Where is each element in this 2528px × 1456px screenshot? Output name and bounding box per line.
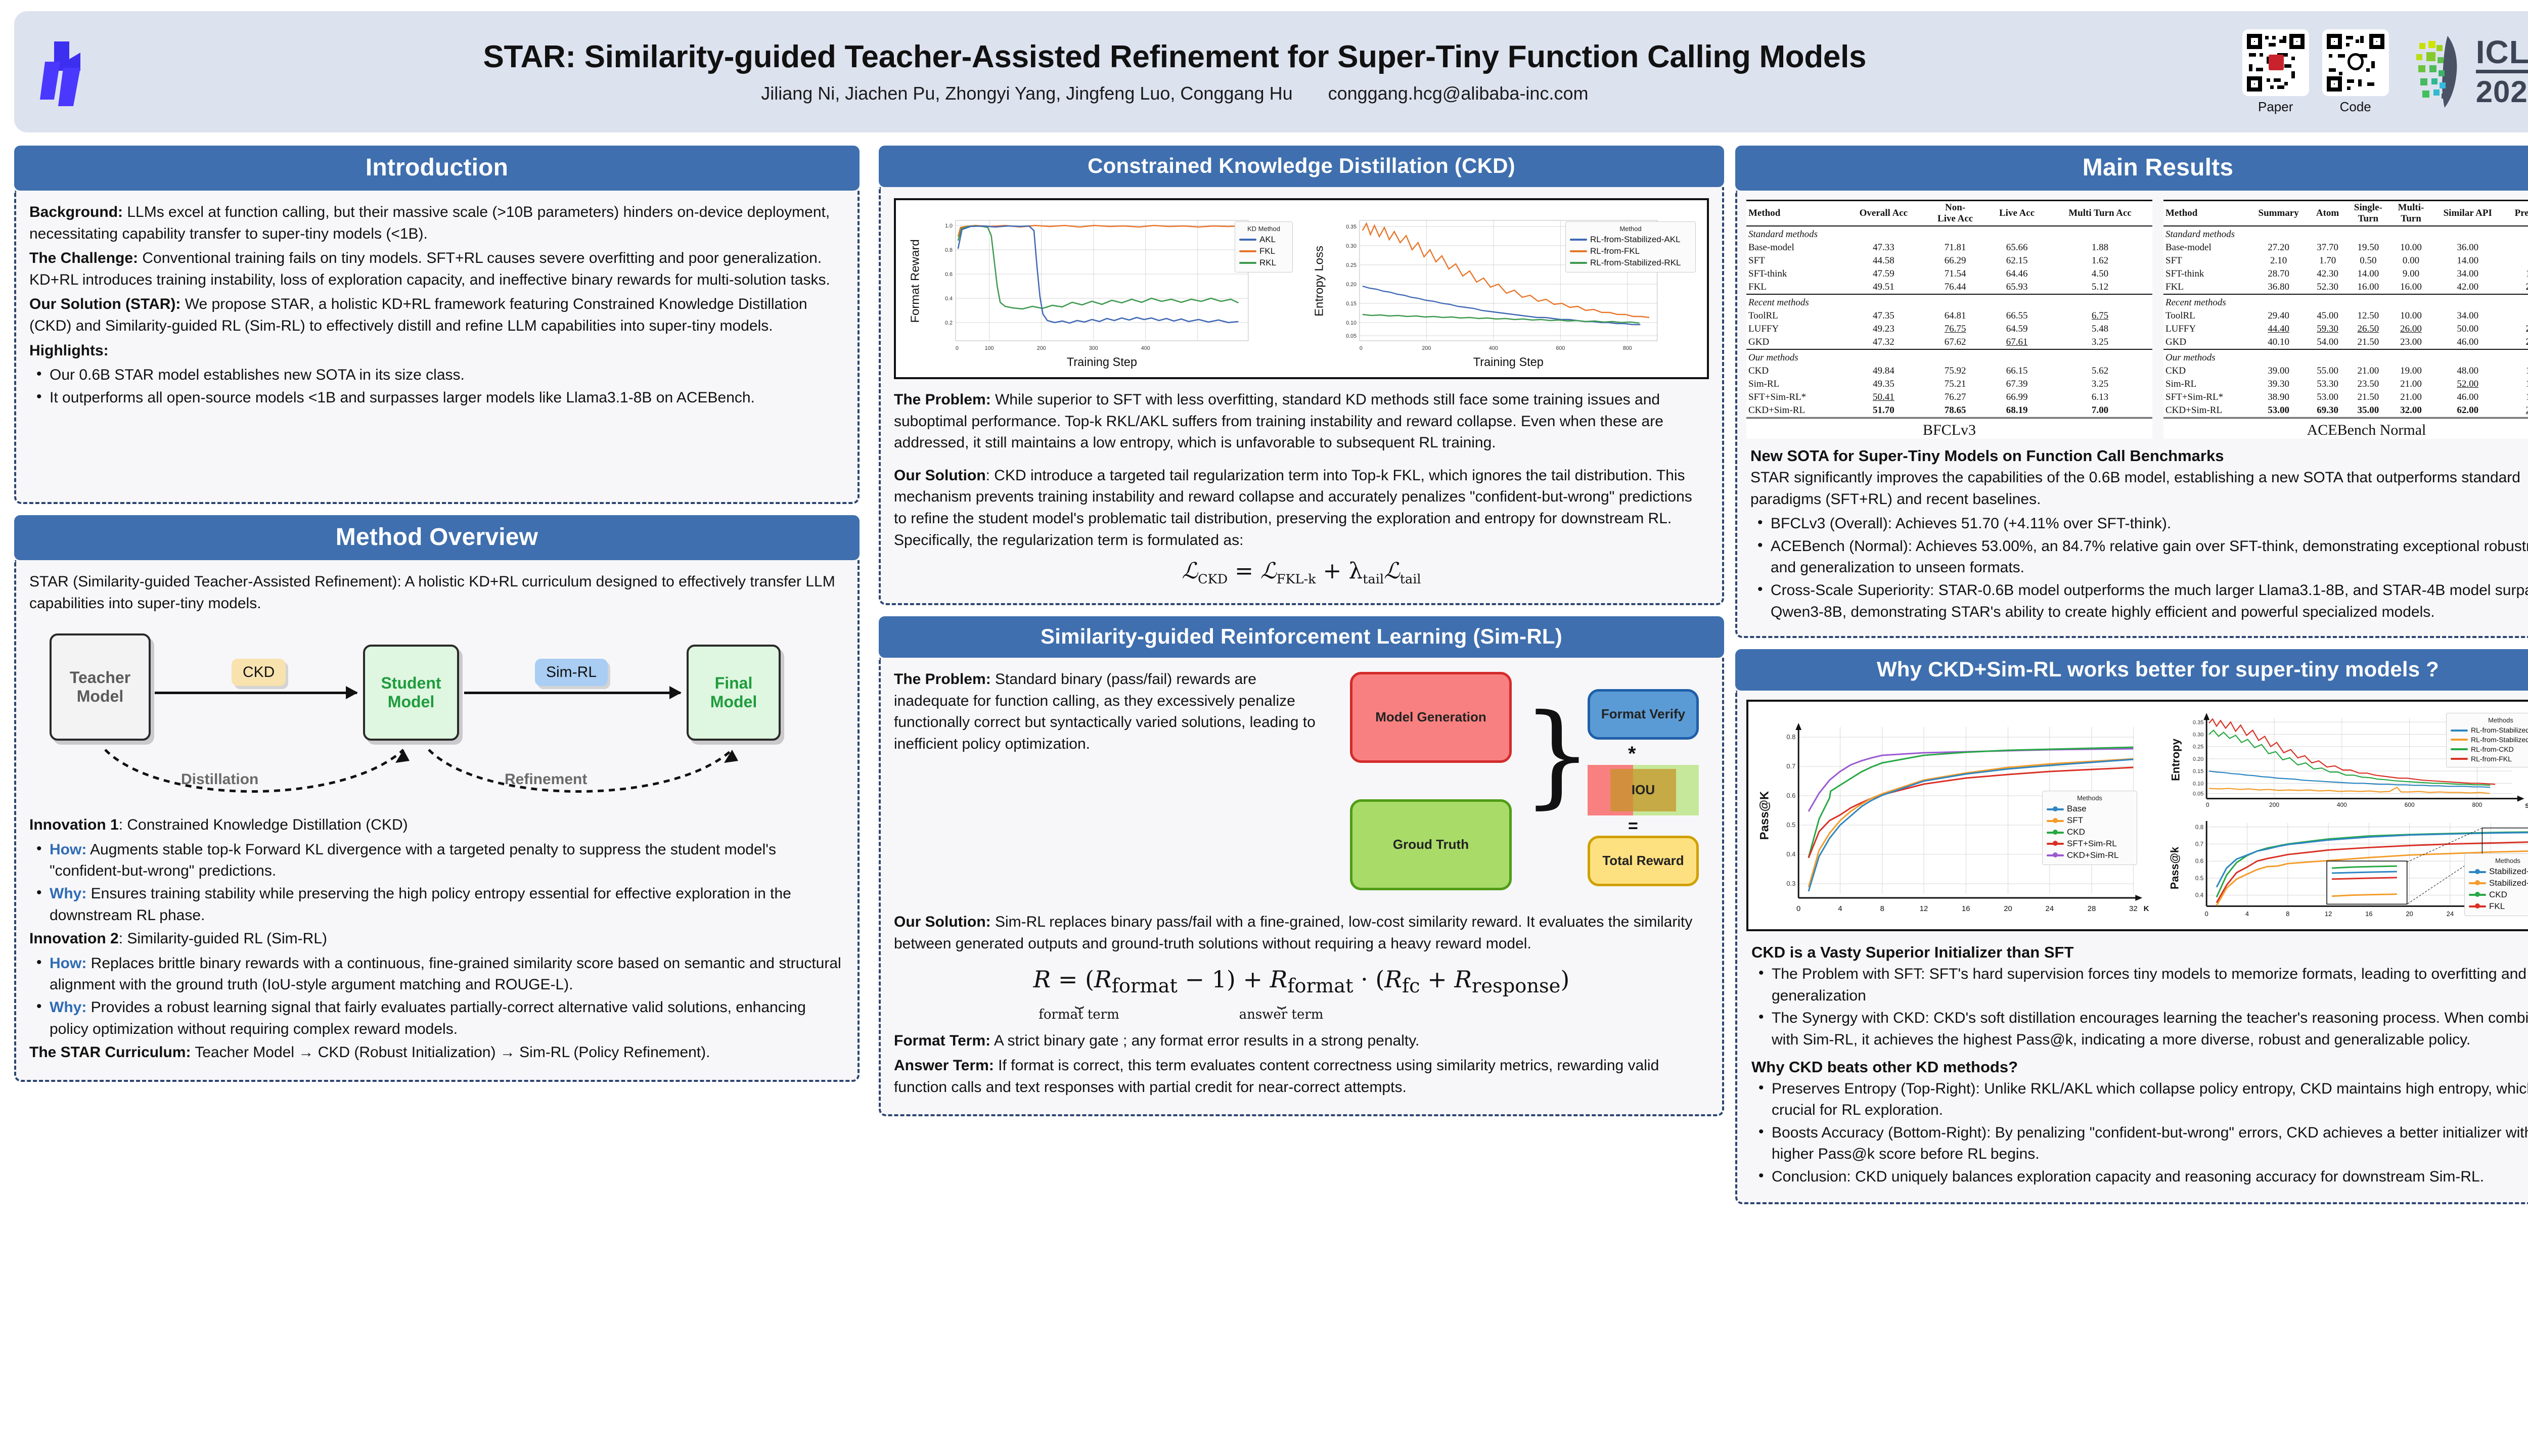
svg-text:0: 0 bbox=[1360, 345, 1363, 351]
legend-title: KD Method bbox=[1239, 225, 1288, 233]
flow-label-distillation: Distillation bbox=[181, 771, 258, 788]
why-text: Provides a robust learning signal that f… bbox=[50, 999, 806, 1037]
table-cell-value: 49.35 bbox=[1843, 378, 1924, 391]
svg-text:0: 0 bbox=[2206, 801, 2209, 808]
svg-text:800: 800 bbox=[2472, 801, 2482, 808]
innovation-1-label: Innovation 1 bbox=[29, 816, 119, 833]
results-sota-heading: New SOTA for Super-Tiny Models on Functi… bbox=[1750, 447, 2528, 465]
table-cell-value: 44.58 bbox=[1843, 254, 1924, 267]
intro-background: Background: LLMs excel at function calli… bbox=[29, 202, 844, 245]
table-row: FKL49.5176.4465.935.12 bbox=[1746, 281, 2152, 294]
table-cell-value: 76.44 bbox=[1924, 281, 1986, 294]
svg-text:20: 20 bbox=[2406, 910, 2413, 918]
table-cell-value: 66.55 bbox=[1986, 309, 2048, 323]
table-acebench-wrap: MethodSummaryAtomSingle-TurnMulti-TurnSi… bbox=[2163, 200, 2528, 439]
why-label: Why: bbox=[50, 885, 86, 902]
svg-text:0.7: 0.7 bbox=[1786, 762, 1795, 770]
chart-passk-kd-ylabel: Pass@k bbox=[2169, 846, 2181, 889]
table-cell-method: Base-model bbox=[1746, 241, 1843, 254]
table-group-row: Our methods bbox=[1746, 349, 2152, 365]
introduction-heading: Introduction bbox=[14, 146, 860, 191]
table-cell-value: 10.00 bbox=[2504, 378, 2528, 391]
table-cell-value: 32.00 bbox=[2390, 404, 2432, 418]
table-cell-value: 76.75 bbox=[1924, 323, 1986, 336]
legend-label: Base bbox=[2067, 803, 2087, 815]
svg-text:0.6: 0.6 bbox=[945, 271, 953, 278]
answer-term-label: Answer Term: bbox=[894, 1057, 994, 1074]
table-cell-value: 49.23 bbox=[1843, 323, 1924, 336]
ckd-solution: Our Solution: CKD introduce a targeted t… bbox=[894, 465, 1709, 551]
innovation-1-text: : Constrained Knowledge Distillation (CK… bbox=[119, 816, 408, 833]
table-cell-value: 0.00 bbox=[2390, 254, 2432, 267]
highlights-label: Highlights: bbox=[29, 342, 109, 359]
table-row: CKD39.0055.0021.0019.0048.0010.00 bbox=[2163, 365, 2528, 378]
list-item: It outperforms all open-source models <1… bbox=[29, 387, 844, 409]
panel-introduction: Introduction Background: LLMs excel at f… bbox=[14, 146, 860, 504]
qr-code[interactable]: Code bbox=[2322, 29, 2389, 115]
table-column-header: Single-Turn bbox=[2346, 201, 2390, 226]
ckd-heading: Constrained Knowledge Distillation (CKD) bbox=[879, 146, 1724, 187]
ckd-problem-text: While superior to SFT with less overfitt… bbox=[894, 391, 1663, 451]
table-cell-value: 52.00 bbox=[2431, 378, 2504, 391]
simrl-solution-text: Sim-RL replaces binary pass/fail with a … bbox=[894, 914, 1692, 952]
table-cell-value: 3.25 bbox=[2048, 378, 2152, 391]
flow-node-final-label: Final Model bbox=[710, 674, 757, 711]
legend-label: RL-from-CKD bbox=[2471, 745, 2514, 754]
middle-column: Constrained Knowledge Distillation (CKD) bbox=[879, 146, 1724, 1127]
panel-simrl: Similarity-guided Reinforcement Learning… bbox=[879, 616, 1724, 1116]
svg-text:20: 20 bbox=[2004, 904, 2012, 913]
svg-text:1.0: 1.0 bbox=[945, 223, 953, 229]
flow-node-teacher: Teacher Model bbox=[50, 633, 151, 741]
ckd-body: 1.00.8 0.60.4 0.2 0100200 300400 Trainin… bbox=[879, 187, 1724, 605]
table-cell-value: 49.51 bbox=[1843, 281, 1924, 294]
table-cell-value: 18.00 bbox=[2504, 391, 2528, 404]
table-cell-value: 5.62 bbox=[2048, 365, 2152, 378]
legend-title: Methods bbox=[2451, 716, 2528, 724]
chart-passk-kd: 0.80.7 0.60.50.4 048 121620 242832 k Pas… bbox=[2161, 816, 2528, 924]
flow-label-refinement: Refinement bbox=[505, 771, 587, 788]
legend-label: Stabilized-RKL bbox=[2489, 878, 2528, 889]
svg-text:0.35: 0.35 bbox=[1346, 224, 1357, 230]
svg-text:0: 0 bbox=[2205, 910, 2208, 918]
svg-text:0.20: 0.20 bbox=[1346, 282, 1357, 288]
table-cell-value: 47.33 bbox=[1843, 241, 1924, 254]
intro-challenge-label: The Challenge: bbox=[29, 250, 138, 266]
flow-tag-simrl: Sim-RL bbox=[535, 659, 608, 686]
table-cell-value: 14.00 bbox=[2346, 267, 2390, 281]
legend-item: RL-from-FKL bbox=[2451, 754, 2528, 764]
table-row: Base-model27.2037.7019.5010.0036.006.00 bbox=[2163, 241, 2528, 254]
table-cell-method: GKD bbox=[2163, 336, 2248, 349]
intro-background-label: Background: bbox=[29, 204, 123, 220]
table-cell-value: 20.00 bbox=[2504, 404, 2528, 418]
how-text: Replaces brittle binary rewards with a c… bbox=[50, 955, 841, 993]
legend-label: RL-from-Stabilized-AKL bbox=[2471, 725, 2528, 735]
table-cell-method: Sim-RL bbox=[1746, 378, 1843, 391]
why-heading: Why CKD+Sim-RL works better for super-ti… bbox=[1735, 649, 2528, 691]
ckd-problem-label: The Problem: bbox=[894, 391, 991, 408]
qr-paper-image bbox=[2242, 29, 2309, 96]
diagram-iou-label: IOU bbox=[1588, 765, 1699, 815]
svg-text:200: 200 bbox=[1422, 345, 1431, 351]
legend-item: RL-from-Stabilized-AKL bbox=[1570, 234, 1691, 246]
table-cell-value: 66.29 bbox=[1924, 254, 1986, 267]
svg-text:32: 32 bbox=[2129, 904, 2138, 913]
chart-passk-methods: 0.80.7 0.60.5 0.40.3 048 121620 242832 K… bbox=[1753, 707, 2154, 924]
table-cell-value: 62.15 bbox=[1986, 254, 2048, 267]
svg-text:0.30: 0.30 bbox=[2193, 732, 2203, 738]
table-cell-value: 6.75 bbox=[2048, 309, 2152, 323]
table-cell-value: 10.00 bbox=[2390, 309, 2432, 323]
table-cell-value: 21.00 bbox=[2390, 391, 2432, 404]
table-cell-value: 65.66 bbox=[1986, 241, 2048, 254]
chart-passk-methods-xlabel: K bbox=[2144, 904, 2149, 913]
simrl-problem-label: The Problem: bbox=[894, 671, 991, 688]
table-row: LUFFY49.2376.7564.595.48 bbox=[1746, 323, 2152, 336]
chart-format-reward-legend: KD Method AKL FKL RKL bbox=[1235, 221, 1293, 272]
table-cell-value: 50.00 bbox=[2431, 323, 2504, 336]
legend-item: RL-from-CKD bbox=[2451, 745, 2528, 754]
format-term-text: A strict binary gate ; any format error … bbox=[990, 1032, 1419, 1049]
table-column-header: Atom bbox=[2309, 201, 2346, 226]
svg-text:0.15: 0.15 bbox=[1346, 301, 1357, 307]
list-item: The Problem with SFT: SFT's hard supervi… bbox=[1751, 964, 2528, 1007]
table-cell-value: 65.93 bbox=[1986, 281, 2048, 294]
table-cell-method: CKD+Sim-RL bbox=[2163, 404, 2248, 418]
title-block: STAR: Similarity-guided Teacher-Assisted… bbox=[107, 39, 2242, 104]
table-cell-value: 46.00 bbox=[2431, 391, 2504, 404]
table-cell-value: 14.00 bbox=[2431, 254, 2504, 267]
iclr-mark-icon bbox=[2408, 34, 2469, 110]
table-group-row: Recent methods bbox=[1746, 294, 2152, 309]
table-cell-value: 26.00 bbox=[2390, 323, 2432, 336]
table-cell-value: 6.00 bbox=[2504, 241, 2528, 254]
table-row: SFT+Sim-RL*38.9053.0021.5021.0046.0018.0… bbox=[2163, 391, 2528, 404]
svg-text:8: 8 bbox=[1880, 904, 1884, 913]
intro-solution: Our Solution (STAR): We propose STAR, a … bbox=[29, 294, 844, 337]
table-cell-value: 47.59 bbox=[1843, 267, 1924, 281]
table-group-row: Recent methods bbox=[2163, 294, 2528, 309]
flow-tag-ckd: CKD bbox=[232, 659, 286, 686]
svg-text:0.25: 0.25 bbox=[1346, 262, 1357, 268]
legend-item: AKL bbox=[1239, 234, 1288, 246]
table-cell-value: 4.50 bbox=[2048, 267, 2152, 281]
legend-label: RL-from-FKL bbox=[1590, 246, 1640, 257]
table-column-header: Overall Acc bbox=[1843, 201, 1924, 226]
table-cell-value: 53.30 bbox=[2309, 378, 2346, 391]
legend-label: AKL bbox=[1259, 234, 1276, 246]
list-item: The Synergy with CKD: CKD's soft distill… bbox=[1751, 1008, 2528, 1051]
ckd-charts: 1.00.8 0.60.4 0.2 0100200 300400 Trainin… bbox=[894, 198, 1709, 379]
innovation-1-list: How: Augments stable top-k Forward KL di… bbox=[29, 839, 844, 926]
table-cell-value: 75.21 bbox=[1924, 378, 1986, 391]
why-bullets-1: The Problem with SFT: SFT's hard supervi… bbox=[1751, 964, 2528, 1051]
intro-highlights-list: Our 0.6B STAR model establishes new SOTA… bbox=[29, 365, 844, 408]
table-cell-value: 47.35 bbox=[1843, 309, 1924, 323]
list-item: Why: Ensures training stability while pr… bbox=[29, 883, 844, 926]
table-group-row: Standard methods bbox=[1746, 226, 2152, 241]
table-cell-value: 47.32 bbox=[1843, 336, 1924, 349]
ckd-problem: The Problem: While superior to SFT with … bbox=[894, 389, 1709, 454]
panel-why: Why CKD+Sim-RL works better for super-ti… bbox=[1735, 649, 2528, 1204]
table-group-row: Our methods bbox=[2163, 349, 2528, 365]
chart-passk-kd-legend: Methods Stabilized-AKL Stabilized-RKL CK… bbox=[2464, 853, 2528, 916]
legend-item: RL-from-Stabilized-AKL bbox=[2451, 725, 2528, 735]
introduction-body: Background: LLMs excel at function calli… bbox=[14, 191, 860, 504]
table-cell-value: 4.00 bbox=[2504, 309, 2528, 323]
table-cell-value: 23.00 bbox=[2390, 336, 2432, 349]
table-cell-value: 39.30 bbox=[2248, 378, 2309, 391]
table-row: SFT2.101.700.500.0014.000.00 bbox=[2163, 254, 2528, 267]
svg-text:0.25: 0.25 bbox=[2193, 744, 2203, 750]
diagram-box-total-reward: Total Reward bbox=[1588, 836, 1699, 886]
svg-text:600: 600 bbox=[2405, 801, 2415, 808]
chart-entropy-steps-xlabel: Steps bbox=[2525, 802, 2528, 809]
chart-passk-methods-legend: Methods Base SFT CKD SFT+Sim-RL CKD+Sim-… bbox=[2042, 791, 2137, 865]
list-item: Preserves Entropy (Top-Right): Unlike RK… bbox=[1751, 1078, 2528, 1121]
table-cell-method: ToolRL bbox=[1746, 309, 1843, 323]
results-tables: MethodOverall AccNon-Live AccLive AccMul… bbox=[1746, 200, 2528, 439]
chart-format-reward: 1.00.8 0.60.4 0.2 0100200 300400 Trainin… bbox=[901, 205, 1298, 372]
list-item: How: Augments stable top-k Forward KL di… bbox=[29, 839, 844, 882]
qr-code-center-logo bbox=[2348, 53, 2364, 70]
conference-logo: ICLR 2026 bbox=[2408, 34, 2528, 110]
table-cell-value: 52.30 bbox=[2309, 281, 2346, 294]
conference-year: 2026 bbox=[2476, 77, 2528, 107]
diagram-brace: } bbox=[1522, 699, 1593, 810]
table-cell-value: 34.00 bbox=[2431, 309, 2504, 323]
svg-text:200: 200 bbox=[1037, 345, 1046, 351]
legend-item: RL-from-FKL bbox=[1570, 246, 1691, 257]
ckd-solution-label: Our Solution bbox=[894, 467, 986, 484]
svg-text:4: 4 bbox=[1838, 904, 1842, 913]
table-row: GKD40.1054.0021.5023.0046.0022.00 bbox=[2163, 336, 2528, 349]
table-cell-value: 36.80 bbox=[2248, 281, 2309, 294]
svg-text:4: 4 bbox=[2245, 910, 2249, 918]
table-cell-value: 49.84 bbox=[1843, 365, 1924, 378]
legend-label: RL-from-Stabilized-RKL bbox=[2471, 735, 2528, 745]
simrl-reward-diagram: Model Generation Groud Truth } Format Ve… bbox=[1345, 669, 1709, 906]
table-cell-value: 54.00 bbox=[2309, 336, 2346, 349]
table-cell-value: 5.12 bbox=[2048, 281, 2152, 294]
table-cell-value: 21.50 bbox=[2346, 336, 2390, 349]
svg-text:0.15: 0.15 bbox=[2193, 768, 2203, 775]
chart-passk-methods-ylabel: Pass@K bbox=[1758, 791, 1772, 840]
table-row: SFT44.5866.2962.151.62 bbox=[1746, 254, 2152, 267]
legend-label: RL-from-FKL bbox=[2471, 754, 2512, 764]
svg-text:0.4: 0.4 bbox=[945, 296, 953, 302]
intro-challenge: The Challenge: Conventional training fai… bbox=[29, 248, 844, 291]
table-group-label: Our methods bbox=[1746, 349, 2152, 365]
table-cell-method: SFT+Sim-RL* bbox=[1746, 391, 1843, 404]
chart-entropy-steps: 0.350.30 0.250.20 0.150.10 0.05 0200400 … bbox=[2161, 707, 2528, 813]
innovation-1: Innovation 1: Constrained Knowledge Dist… bbox=[29, 814, 844, 836]
svg-text:28: 28 bbox=[2088, 904, 2096, 913]
table-cell-method: CKD bbox=[2163, 365, 2248, 378]
table-group-label: Standard methods bbox=[2163, 226, 2528, 241]
diagram-box-ground-truth: Groud Truth bbox=[1350, 799, 1512, 890]
table-cell-value: 1.88 bbox=[2048, 241, 2152, 254]
simrl-formula-underbraces: ⏟ format term ⏟ answer term bbox=[894, 998, 1709, 1022]
table-cell-value: 68.19 bbox=[1986, 404, 2048, 418]
diagram-box-format-verify: Format Verify bbox=[1588, 689, 1699, 740]
table-cell-value: 23.50 bbox=[2346, 378, 2390, 391]
why-body: 0.80.7 0.60.5 0.40.3 048 121620 242832 K… bbox=[1735, 691, 2528, 1204]
svg-text:400: 400 bbox=[2337, 801, 2347, 808]
innovation-2-label: Innovation 2 bbox=[29, 930, 119, 947]
why-text: Ensures training stability while preserv… bbox=[50, 885, 791, 924]
svg-text:0.3: 0.3 bbox=[1786, 880, 1795, 887]
table-cell-value: 0.50 bbox=[2346, 254, 2390, 267]
table-cell-value: 45.00 bbox=[2309, 309, 2346, 323]
simrl-solution: Our Solution: Sim-RL replaces binary pas… bbox=[894, 912, 1709, 954]
legend-title: Method bbox=[1570, 225, 1691, 233]
qr-code-image bbox=[2322, 29, 2389, 96]
poster-header: STAR: Similarity-guided Teacher-Assisted… bbox=[14, 11, 2528, 132]
table-cell-value: 29.40 bbox=[2248, 309, 2309, 323]
legend-label: SFT bbox=[2067, 815, 2083, 827]
table-row: ToolRL29.4045.0012.5010.0034.004.00 bbox=[2163, 309, 2528, 323]
table-row: CKD+Sim-RL53.0069.3035.0032.0062.0020.00 bbox=[2163, 404, 2528, 418]
table-cell-method: FKL bbox=[2163, 281, 2248, 294]
legend-label: CKD bbox=[2489, 889, 2507, 901]
table-cell-value: 35.00 bbox=[2346, 404, 2390, 418]
svg-text:0.30: 0.30 bbox=[1346, 243, 1357, 249]
table-cell-value: 6.13 bbox=[2048, 391, 2152, 404]
table-cell-value: 21.50 bbox=[2346, 391, 2390, 404]
flow-node-teacher-label: Teacher Model bbox=[70, 668, 130, 706]
table-cell-value: 50.41 bbox=[1843, 391, 1924, 404]
legend-title: Methods bbox=[2047, 794, 2133, 802]
format-term-label: Format Term: bbox=[894, 1032, 990, 1049]
table-column-header: Method bbox=[2163, 201, 2248, 226]
legend-item: CKD bbox=[2469, 889, 2528, 901]
table-column-header: Preference bbox=[2504, 201, 2528, 226]
flow-node-student: Student Model bbox=[363, 645, 459, 741]
table-cell-value: 7.00 bbox=[2048, 404, 2152, 418]
legend-item: Base bbox=[2047, 803, 2133, 815]
table-cell-value: 22.00 bbox=[2504, 281, 2528, 294]
table-cell-value: 67.61 bbox=[1986, 336, 2048, 349]
table-cell-value: 71.54 bbox=[1924, 267, 1986, 281]
svg-text:0: 0 bbox=[1796, 904, 1800, 913]
table-bfclv3-caption: BFCLv3 bbox=[1746, 422, 2152, 439]
flow-arrow-teacher-student bbox=[155, 692, 357, 694]
legend-label: FKL bbox=[2489, 901, 2505, 913]
table-bfclv3: MethodOverall AccNon-Live AccLive AccMul… bbox=[1746, 200, 2152, 419]
table-cell-value: 36.00 bbox=[2431, 241, 2504, 254]
chart-entropy-loss-ylabel: Entropy Loss bbox=[1313, 246, 1326, 316]
svg-text:0.8: 0.8 bbox=[945, 247, 953, 253]
table-cell-value: 26.50 bbox=[2346, 323, 2390, 336]
table-column-header: Non-Live Acc bbox=[1924, 201, 1986, 226]
table-cell-value: 28.70 bbox=[2248, 267, 2309, 281]
table-cell-value: 37.70 bbox=[2309, 241, 2346, 254]
table-row: SFT-think47.5971.5464.464.50 bbox=[1746, 267, 2152, 281]
svg-text:800: 800 bbox=[1623, 345, 1632, 351]
table-cell-value: 34.00 bbox=[2431, 267, 2504, 281]
simrl-format-term: Format Term: A strict binary gate ; any … bbox=[894, 1030, 1709, 1052]
table-cell-value: 55.00 bbox=[2309, 365, 2346, 378]
table-row: CKD+Sim-RL51.7078.6568.197.00 bbox=[1746, 404, 2152, 418]
table-row: SFT+Sim-RL*50.4176.2766.996.13 bbox=[1746, 391, 2152, 404]
table-cell-value: 1.62 bbox=[2048, 254, 2152, 267]
svg-text:400: 400 bbox=[1489, 345, 1498, 351]
table-cell-value: 66.99 bbox=[1986, 391, 2048, 404]
table-cell-value: 42.00 bbox=[2431, 281, 2504, 294]
how-label: How: bbox=[50, 955, 86, 972]
legend-item: CKD+Sim-RL bbox=[2047, 850, 2133, 861]
table-cell-value: 9.00 bbox=[2390, 267, 2432, 281]
table-cell-value: 51.70 bbox=[1843, 404, 1924, 418]
legend-item: Stabilized-AKL bbox=[2469, 866, 2528, 878]
list-item: BFCLv3 (Overall): Achieves 51.70 (+4.11%… bbox=[1750, 513, 2528, 535]
simrl-heading: Similarity-guided Reinforcement Learning… bbox=[879, 616, 1724, 658]
table-cell-method: SFT+Sim-RL* bbox=[2163, 391, 2248, 404]
svg-text:100: 100 bbox=[985, 345, 994, 351]
table-row: SFT-think28.7042.3014.009.0034.0010.00 bbox=[2163, 267, 2528, 281]
table-cell-method: CKD+Sim-RL bbox=[1746, 404, 1843, 418]
table-cell-value: 21.00 bbox=[2390, 378, 2432, 391]
contact-email: conggang.hcg@alibaba-inc.com bbox=[1328, 83, 1589, 104]
qr-paper[interactable]: Paper bbox=[2242, 29, 2309, 115]
legend-item: FKL bbox=[2469, 901, 2528, 913]
innovation-2-list: How: Replaces brittle binary rewards wit… bbox=[29, 953, 844, 1040]
table-cell-value: 22.00 bbox=[2504, 323, 2528, 336]
panel-ckd: Constrained Knowledge Distillation (CKD) bbox=[879, 146, 1724, 605]
legend-label: RKL bbox=[1259, 257, 1276, 269]
why-label: Why: bbox=[50, 999, 86, 1016]
svg-text:0.20: 0.20 bbox=[2193, 756, 2203, 762]
chart-entropy-steps-ylabel: Entropy bbox=[2170, 738, 2182, 781]
chart-format-reward-xlabel: Training Step bbox=[1067, 355, 1137, 369]
page-title: STAR: Similarity-guided Teacher-Assisted… bbox=[112, 39, 2237, 74]
table-cell-method: LUFFY bbox=[1746, 323, 1843, 336]
svg-text:0.35: 0.35 bbox=[2193, 719, 2203, 725]
table-cell-value: 64.59 bbox=[1986, 323, 2048, 336]
table-cell-value: 16.00 bbox=[2346, 281, 2390, 294]
svg-text:0.05: 0.05 bbox=[1346, 333, 1357, 339]
ckd-solution-text: : CKD introduce a targeted tail regulari… bbox=[894, 467, 1692, 549]
table-column-header: Summary bbox=[2248, 201, 2309, 226]
chart-entropy-loss-xlabel: Training Step bbox=[1473, 355, 1544, 369]
table-cell-value: 59.30 bbox=[2309, 323, 2346, 336]
list-item: Conclusion: CKD uniquely balances explor… bbox=[1751, 1166, 2528, 1188]
intro-highlights-label: Highlights: bbox=[29, 340, 844, 362]
table-column-header: Method bbox=[1746, 201, 1843, 226]
table-cell-value: 39.00 bbox=[2248, 365, 2309, 378]
table-group-label: Our methods bbox=[2163, 349, 2528, 365]
legend-label: CKD+Sim-RL bbox=[2067, 850, 2119, 861]
method-intro: STAR (Similarity-guided Teacher-Assisted… bbox=[29, 571, 844, 614]
table-cell-method: ToolRL bbox=[2163, 309, 2248, 323]
table-cell-method: LUFFY bbox=[2163, 323, 2248, 336]
diagram-operator-equals: = bbox=[1628, 816, 1638, 836]
legend-item: RL-from-Stabilized-RKL bbox=[1570, 257, 1691, 269]
qr-paper-center-logo bbox=[2269, 55, 2284, 71]
table-cell-value: 69.30 bbox=[2309, 404, 2346, 418]
table-group-label: Standard methods bbox=[1746, 226, 2152, 241]
table-cell-value: 19.00 bbox=[2390, 365, 2432, 378]
table-cell-method: Sim-RL bbox=[2163, 378, 2248, 391]
table-cell-value: 42.30 bbox=[2309, 267, 2346, 281]
flow-node-student-label: Student Model bbox=[381, 674, 441, 711]
diagram-box-iou: IOU bbox=[1588, 765, 1699, 815]
legend-label: RL-from-Stabilized-RKL bbox=[1590, 257, 1681, 269]
author-list: Jiliang Ni, Jiachen Pu, Zhongyi Yang, Ji… bbox=[761, 83, 1292, 104]
list-item: ACEBench (Normal): Achieves 53.00%, an 8… bbox=[1750, 536, 2528, 579]
